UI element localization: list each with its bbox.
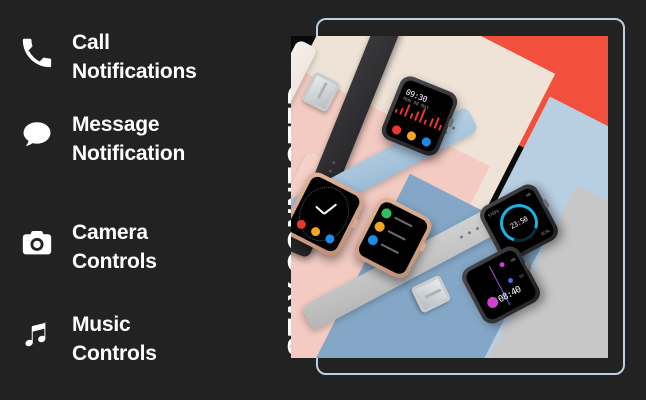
- feature-item-music-controls[interactable]: Music Controls: [14, 310, 250, 376]
- music-note-icon: [14, 312, 60, 358]
- poster-canvas: Call Notifications Message Notification …: [0, 0, 646, 400]
- watch-tag: HR: [510, 256, 517, 263]
- camera-icon: [14, 220, 60, 266]
- smartwatch-collection-photo: 09:30 MON 08 MAY: [291, 36, 608, 358]
- phone-call-icon: [14, 30, 60, 76]
- feature-label: Message Notification: [72, 110, 185, 168]
- app-menu-list: [366, 207, 414, 258]
- feature-list: Call Notifications Message Notification …: [0, 0, 250, 400]
- feature-label: Music Controls: [72, 310, 157, 368]
- message-bubble-icon: [14, 112, 60, 158]
- feature-label: Call Notifications: [72, 28, 197, 86]
- activity-ring: 23:50: [493, 197, 544, 248]
- feature-item-camera-controls[interactable]: Camera Controls: [14, 218, 250, 284]
- watch-tag: O2: [518, 272, 525, 279]
- watch-time: 23:50: [509, 215, 529, 231]
- feature-item-message-notification[interactable]: Message Notification: [14, 110, 250, 176]
- feature-label: Camera Controls: [72, 218, 157, 276]
- feature-item-call-notifications[interactable]: Call Notifications: [14, 28, 250, 94]
